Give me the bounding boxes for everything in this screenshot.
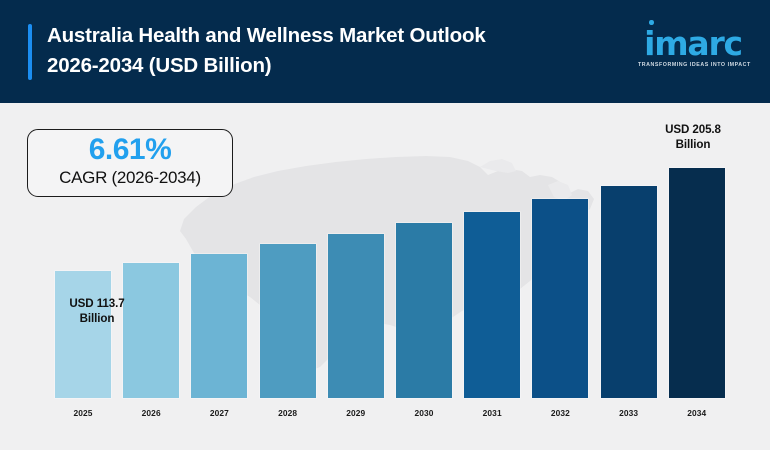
last-value-line1: USD 205.8	[665, 123, 721, 136]
x-axis-label-2031: 2031	[464, 408, 520, 418]
x-axis-label-2034: 2034	[669, 408, 725, 418]
x-axis-label-2025: 2025	[55, 408, 111, 418]
chart-area: 6.61% CAGR (2026-2034) 20252026202720282…	[0, 103, 770, 450]
imarc-logo: imarc TRANSFORMING IDEAS INTO IMPACT	[638, 27, 748, 68]
bar-2032	[532, 199, 588, 398]
logo-wordmark: imarc	[644, 27, 742, 60]
bar-2026	[123, 263, 179, 398]
x-axis-label-2027: 2027	[191, 408, 247, 418]
bar-2029	[328, 234, 384, 398]
bar-chart: 2025202620272028202920302031203220332034	[0, 103, 770, 450]
bar-2033	[601, 186, 657, 398]
first-value-callout: USD 113.7 Billion	[45, 297, 149, 326]
logo-wordmark-text: imarc	[644, 24, 742, 63]
bar-2034	[669, 168, 725, 398]
x-axis-label-2030: 2030	[396, 408, 452, 418]
x-axis-label-2026: 2026	[123, 408, 179, 418]
infographic-page: Australia Health and Wellness Market Out…	[0, 0, 770, 450]
x-axis-label-2029: 2029	[328, 408, 384, 418]
x-axis-label-2028: 2028	[260, 408, 316, 418]
x-axis-label-2032: 2032	[532, 408, 588, 418]
page-title-line1: Australia Health and Wellness Market Out…	[47, 24, 486, 47]
page-title: Australia Health and Wellness Market Out…	[47, 21, 607, 81]
header-accent-bar	[28, 24, 32, 80]
first-value-line2: Billion	[45, 312, 149, 327]
logo-dot-icon	[649, 20, 654, 25]
bar-2028	[260, 244, 316, 398]
bar-2031	[464, 212, 520, 398]
bar-2027	[191, 254, 247, 398]
last-value-line2: Billion	[636, 138, 750, 153]
bar-2030	[396, 223, 452, 398]
header-bar: Australia Health and Wellness Market Out…	[0, 0, 770, 103]
first-value-line1: USD 113.7	[69, 297, 124, 310]
x-axis-label-2033: 2033	[601, 408, 657, 418]
page-title-line2: 2026-2034 (USD Billion)	[47, 51, 607, 81]
bar-2025	[55, 271, 111, 398]
last-value-callout: USD 205.8 Billion	[636, 123, 750, 152]
